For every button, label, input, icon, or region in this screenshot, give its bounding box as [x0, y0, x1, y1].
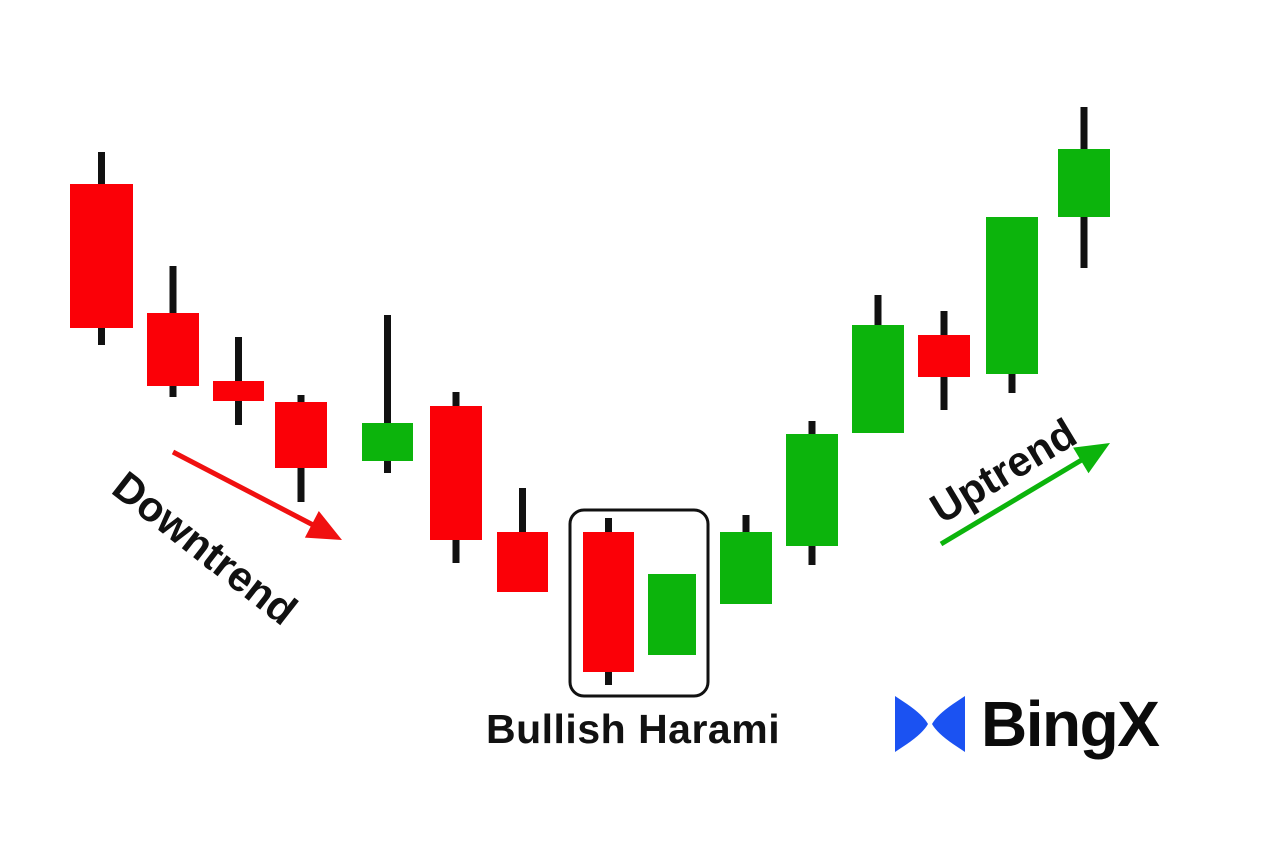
- candle-11: [786, 421, 838, 565]
- candle-13: [918, 311, 970, 410]
- candle-5-body-bullish: [362, 423, 413, 461]
- candle-1: [70, 152, 133, 345]
- candle-8: [583, 518, 634, 685]
- candlestick-diagram: Downtrend Uptrend Bullish Harami BingX: [0, 0, 1280, 853]
- bingx-logo: BingX: [893, 692, 1158, 756]
- candle-9-body-bullish: [648, 574, 696, 655]
- candle-14: [986, 217, 1038, 393]
- candle-2: [147, 266, 199, 397]
- candle-12-body-bullish: [852, 325, 904, 433]
- candle-11-body-bullish: [786, 434, 838, 546]
- candle-7: [497, 488, 548, 592]
- candle-9: [648, 574, 696, 655]
- candle-13-body-bearish: [918, 335, 970, 377]
- pattern-name-label: Bullish Harami: [486, 706, 780, 753]
- candle-14-body-bullish: [986, 217, 1038, 374]
- candle-12: [852, 295, 904, 433]
- candle-8-body-bearish: [583, 532, 634, 672]
- candle-2-body-bearish: [147, 313, 199, 386]
- candle-10-body-bullish: [720, 532, 772, 604]
- candle-4-body-bearish: [275, 402, 327, 468]
- candle-6-body-bearish: [430, 406, 482, 540]
- candle-15-body-bullish: [1058, 149, 1110, 217]
- bingx-bowtie-icon: [893, 694, 967, 754]
- candle-1-body-bearish: [70, 184, 133, 328]
- candle-3: [213, 337, 264, 425]
- candle-5: [362, 315, 413, 473]
- candle-10: [720, 515, 772, 604]
- bingx-wordmark: BingX: [981, 692, 1158, 756]
- candle-3-body-bearish: [213, 381, 264, 401]
- candle-6: [430, 392, 482, 563]
- candle-4: [275, 395, 327, 502]
- candle-7-body-bearish: [497, 532, 548, 592]
- candle-15: [1058, 107, 1110, 268]
- candlestick-series: [70, 107, 1110, 685]
